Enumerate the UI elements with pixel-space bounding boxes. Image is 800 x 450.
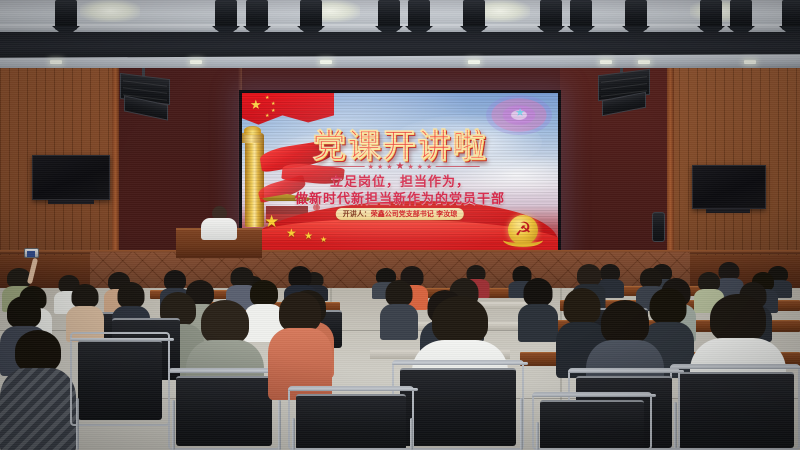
presenter-label: 开讲人： <box>343 210 371 218</box>
gold-star-icon: ★ <box>320 236 327 244</box>
ripple-star-icon: ★ <box>515 106 525 119</box>
stage-light-icon <box>730 0 752 30</box>
stage-light-icon <box>378 0 400 30</box>
screenshot-scene: ★ ★ ★ ★ ★ ★ <box>0 0 800 450</box>
presenter-person <box>196 206 242 236</box>
stage-light-icon <box>782 0 800 30</box>
gold-star-icon: ★ <box>286 227 297 239</box>
chair-leg <box>410 418 413 450</box>
led-presenter-bar: 开讲人：荣鑫公司党支部书记 李汝琼 <box>336 208 464 220</box>
chair-frame[interactable] <box>70 332 170 426</box>
party-emblem-icon: ☭ <box>508 215 538 245</box>
monitor-mount-left <box>48 200 94 204</box>
wall-monitor-left[interactable] <box>32 155 110 200</box>
stage-light-icon <box>625 0 647 30</box>
chair-frame[interactable] <box>670 364 800 450</box>
downlight-icon <box>744 60 756 64</box>
stage-light-icon <box>700 0 722 30</box>
chair-armrest <box>168 370 284 373</box>
stage-light-icon <box>55 0 77 30</box>
stage-light-icon <box>408 0 430 30</box>
gold-star-icon: ★ <box>264 214 279 231</box>
presenter-org: 荣鑫公司党支部书记 <box>371 210 434 218</box>
stage-light-icon <box>540 0 562 30</box>
chair-leg <box>278 400 281 450</box>
downlight-icon <box>638 60 650 64</box>
downlight-icon <box>320 60 332 64</box>
stage-light-icon <box>300 0 322 30</box>
presenter-name: 李汝琼 <box>436 210 457 218</box>
chair-armrest <box>70 338 174 341</box>
stage-light-icon <box>215 0 237 30</box>
chair-leg <box>172 400 175 450</box>
audience-person-near <box>268 292 332 396</box>
ceiling-glow <box>80 0 140 22</box>
stage-light-icon <box>570 0 592 30</box>
audience-person-near-edge <box>0 330 76 450</box>
wall-monitor-right[interactable] <box>692 165 766 209</box>
chair-armrest <box>532 394 656 397</box>
camera-icon <box>24 248 39 258</box>
chair-leg <box>292 418 295 450</box>
audience-person <box>518 278 558 340</box>
chair-leg <box>76 398 79 450</box>
downlight-icon <box>600 60 612 64</box>
gold-star-icon: ★ <box>304 232 313 242</box>
led-display-panel[interactable]: ★ ★ ★ ★ ★ ★ <box>239 90 561 256</box>
stage-light-icon <box>463 0 485 30</box>
downlight-icon <box>190 60 202 64</box>
chair-armrest <box>392 362 528 365</box>
monitor-mount-right <box>706 209 750 213</box>
chair-leg <box>520 398 523 450</box>
downlight-icon <box>468 60 480 64</box>
stage-light-icon <box>246 0 268 30</box>
chair-armrest <box>568 370 684 373</box>
wall-speaker-small <box>652 212 665 242</box>
led-screen-content: ★ ★ ★ ★ ★ ★ <box>242 93 558 253</box>
chair-frame[interactable] <box>532 392 652 450</box>
chair-frame[interactable] <box>168 368 280 450</box>
chair-frame[interactable] <box>288 386 414 450</box>
led-subtitle-line2: 做新时代新担当新作为的党员干部 <box>242 188 558 207</box>
chair-armrest <box>288 388 418 391</box>
downlight-icon <box>50 60 62 64</box>
presenter-body <box>201 218 237 240</box>
led-title: 党课开讲啦 <box>242 119 558 167</box>
chair-leg <box>536 422 539 450</box>
chair-armrest <box>670 366 800 369</box>
